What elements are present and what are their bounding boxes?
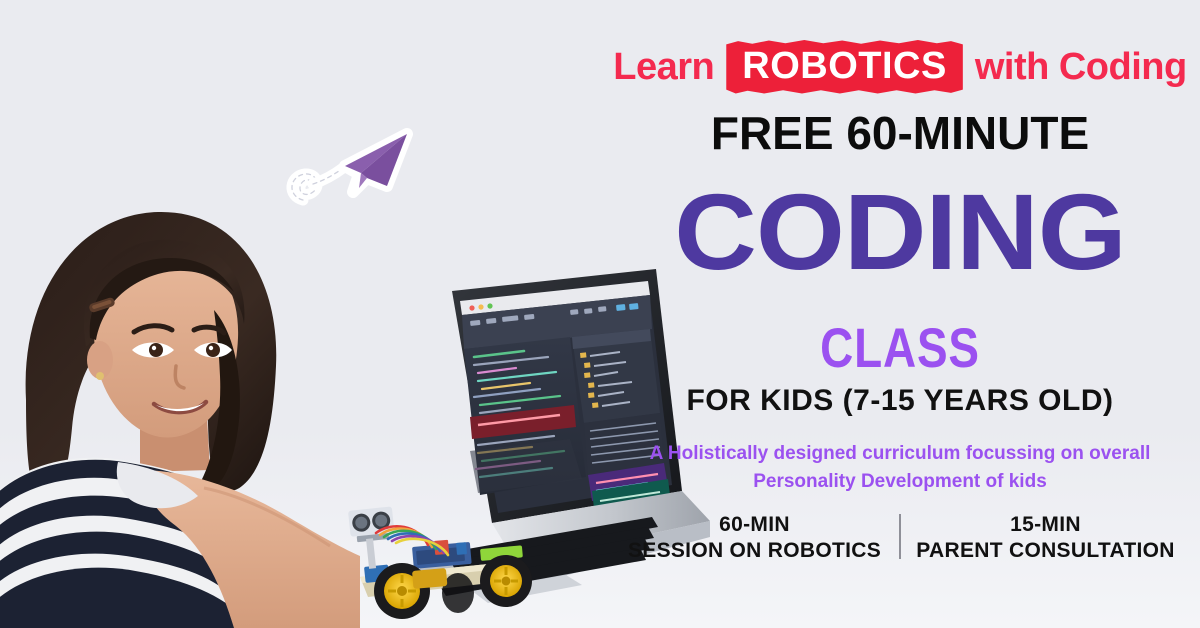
feature-description: PARENT CONSULTATION: [909, 538, 1182, 564]
features-row: 60-MIN SESSION ON ROBOTICS 15-MIN PARENT…: [610, 512, 1190, 565]
headline-lead-word: Learn: [613, 48, 714, 86]
feature-description: SESSION ON ROBOTICS: [618, 538, 891, 564]
curriculum-tagline: A Holistically designed curriculum focus…: [620, 440, 1180, 495]
headline-trail-words: with Coding: [975, 48, 1187, 86]
student-girl-photo: [0, 170, 360, 628]
feature-session-on-robotics: 60-MIN SESSION ON ROBOTICS: [610, 512, 899, 565]
feature-duration: 15-MIN: [909, 512, 1182, 538]
copy-column: Learn ROBOTICS with Coding FREE 60-MINUT…: [600, 0, 1200, 628]
promo-banner: Learn ROBOTICS with Coding FREE 60-MINUT…: [0, 0, 1200, 628]
audience-line: FOR KIDS (7-15 YEARS OLD): [600, 386, 1200, 416]
coding-title: CODING: [582, 178, 1200, 286]
feature-duration: 60-MIN: [618, 512, 891, 538]
class-subtitle: CLASS: [654, 320, 1146, 376]
free-duration-line: FREE 60-MINUTE: [600, 110, 1200, 156]
feature-parent-consultation: 15-MIN PARENT CONSULTATION: [901, 512, 1190, 565]
robotics-badge: ROBOTICS: [726, 40, 963, 94]
headline-row: Learn ROBOTICS with Coding: [600, 40, 1200, 94]
robotics-car-kit: [330, 505, 555, 623]
